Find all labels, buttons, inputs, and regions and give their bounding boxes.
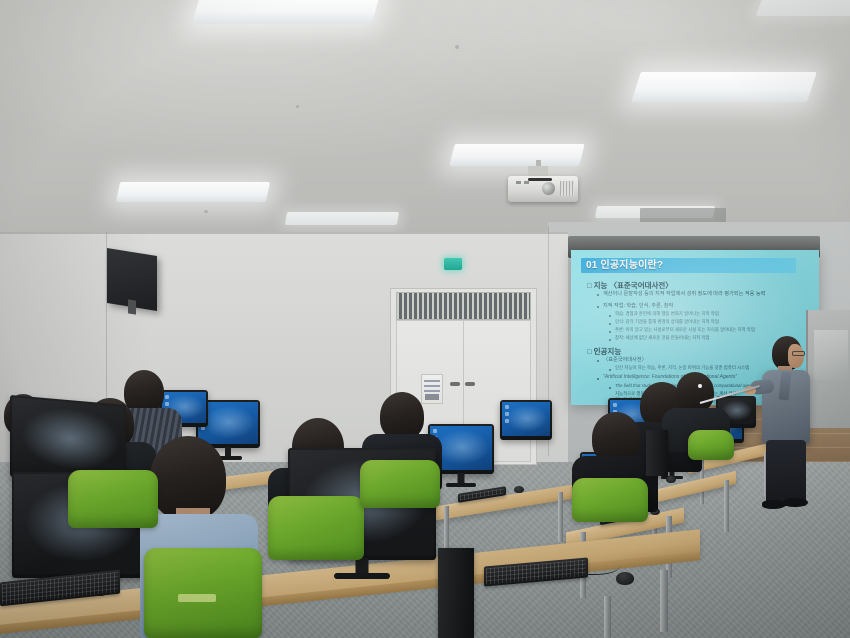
notice-image (425, 394, 439, 400)
slide-bullet-2-3: "Artificial Intelligence: Foundations of… (603, 374, 737, 380)
mouse-cable (560, 552, 620, 575)
chair-center[interactable] (360, 460, 440, 508)
emergency-exit-sign (444, 258, 462, 270)
projector-button[interactable] (516, 181, 521, 184)
monitor-back-center[interactable] (500, 400, 552, 440)
desk-leg-m2 (558, 492, 563, 542)
chair-mid-left[interactable] (268, 496, 364, 560)
chair-far-right[interactable] (688, 430, 734, 460)
student-head-8 (676, 372, 714, 412)
projector-cable (528, 178, 552, 181)
slide-bullet-1-1: 계산이나 문장작성 등의 지적 작업에서 성취 정도에 따라 평가되는 적응 능… (603, 290, 765, 297)
slide-title: 01 인공지능이란? (581, 258, 796, 273)
projector-button-2[interactable] (524, 181, 529, 184)
classroom-photo: 01 인공지능이란? □ 지능 〈표준국어대사전〉 계산이나 문장작성 등의 지… (0, 0, 850, 638)
door-transom-louver (396, 292, 531, 320)
instructor-shoe-right (784, 498, 808, 507)
slide-bullet-2-1: 〈표준국어대사전〉 (603, 356, 647, 363)
slide-bullet-1-3: 학습: 경험과 훈련에 의해 행동 변화가 일어나는 지적 작업 (615, 311, 719, 317)
chair-front-center[interactable] (144, 548, 262, 638)
slide-bullet-1-6: 창작: 세상에 없던 새로운 것을 만들어내는 지적 작업 (615, 335, 710, 341)
ceiling-sensor-1 (455, 45, 459, 49)
ceiling-sensor-2 (204, 210, 208, 213)
ceiling-light-2 (449, 144, 584, 166)
ceiling-wall-seam (0, 232, 568, 234)
door-handle-left[interactable] (450, 382, 460, 386)
slide-bullet-1-5: 추론: 이미 알고 있는 사실로부터 새로운 사실 또는 지식을 알아내는 지적… (615, 327, 755, 333)
ceiling-light-1 (192, 0, 381, 24)
door-handle-right[interactable] (465, 382, 475, 386)
slide-bullet-1-4: 인식: 감각 기관을 통해 환경의 상태를 알아내는 지적 작업 (615, 319, 719, 325)
ceiling-light-5 (631, 72, 817, 102)
chair-left[interactable] (68, 470, 158, 528)
mouse-center-mid[interactable] (514, 486, 524, 493)
slide-bullet-1-2: 지적 작업: 학습, 인식, 추론, 창작 (603, 302, 673, 309)
chair-right[interactable] (572, 478, 648, 522)
instructor (756, 336, 826, 516)
door-notice-poster (421, 374, 443, 404)
ceiling-light-4 (285, 212, 399, 225)
student-head-5 (380, 392, 424, 440)
projector-vent (560, 181, 574, 196)
instructor-face (788, 344, 804, 368)
instructor-shoe-left (762, 500, 786, 509)
pc-tower-foreground (438, 548, 474, 638)
slide-bullet-2-2: 인간 지능이 하는 학습, 추론, 지각, 논증 따위의 기능을 갖춘 컴퓨터 … (615, 365, 749, 371)
instructor-trousers (766, 440, 806, 506)
desk-leg-front-1 (660, 570, 668, 632)
desk-leg-front-2 (604, 596, 611, 638)
pointer-tip (698, 384, 702, 388)
chair-label (178, 594, 216, 602)
mouse-foreground-right[interactable] (616, 572, 634, 585)
pc-tower-right (646, 430, 668, 476)
speaker-bracket (128, 299, 136, 314)
ceiling-sensor-3 (296, 105, 299, 108)
instructor-glasses-icon (792, 351, 805, 356)
ceiling-light-3 (116, 182, 270, 202)
ceiling-light-6 (756, 0, 850, 16)
mouse-far-right-2[interactable] (666, 476, 676, 483)
projector-lens (542, 182, 555, 195)
desk-leg-b2 (724, 480, 729, 532)
